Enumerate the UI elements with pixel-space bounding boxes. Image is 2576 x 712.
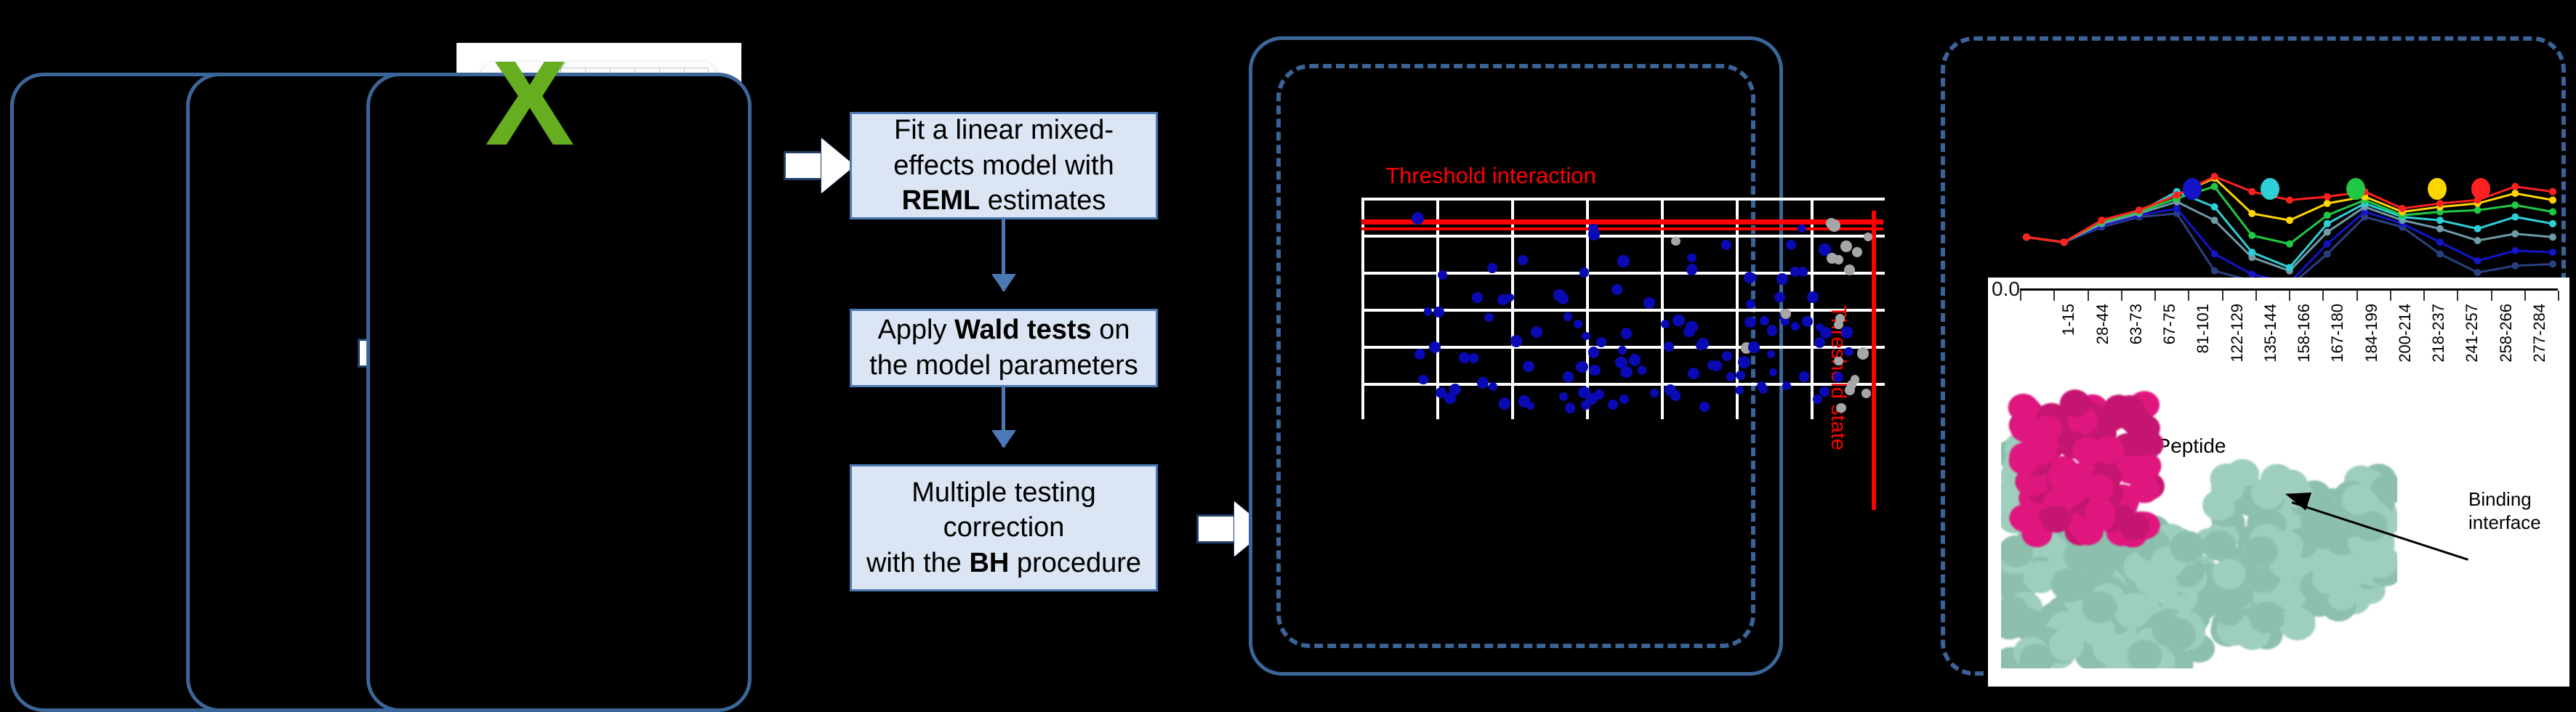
legend-dot <box>2471 178 2490 200</box>
surface-blob <box>2152 615 2187 647</box>
scatter-point <box>1412 212 1424 224</box>
line-marker <box>2549 196 2556 203</box>
scatter-point <box>1518 395 1530 407</box>
scatter-point <box>1497 294 1508 305</box>
arrow-shaft <box>1196 514 1239 543</box>
line-marker <box>2549 209 2556 216</box>
process-step-bh[interactable]: Multiple testing correction with the BH … <box>850 464 1158 591</box>
line-marker <box>2474 237 2482 244</box>
scatter-plot-title: Threshold interaction <box>1367 163 1614 189</box>
scatter-point <box>1523 361 1534 372</box>
line-marker <box>2286 217 2293 224</box>
scatter-point <box>1841 326 1853 339</box>
surface-blob <box>2303 518 2337 549</box>
scatter-point <box>1760 316 1769 325</box>
surface-blob <box>2117 593 2152 625</box>
peptide-tick-label: 1-15 <box>2059 304 2078 336</box>
scatter-point <box>1738 356 1750 368</box>
reml-keyword: REML <box>902 185 981 216</box>
surface-blob <box>2041 505 2072 533</box>
axis-tick <box>2524 291 2526 301</box>
line-marker <box>2061 238 2068 246</box>
line-marker <box>2436 217 2444 224</box>
line-marker <box>2211 217 2218 224</box>
surface-blob <box>2170 531 2205 563</box>
line-marker <box>2324 193 2331 201</box>
line-marker <box>2286 196 2293 203</box>
scatter-point <box>1790 267 1800 276</box>
bh-keyword: BH <box>969 548 1009 578</box>
peptide-line-chart <box>1992 149 2566 283</box>
line-marker <box>2511 183 2519 190</box>
peptide-tick-label: 81-101 <box>2194 304 2213 354</box>
axis-tick <box>2088 291 2089 301</box>
scatter-point <box>1671 237 1680 246</box>
line-marker <box>2023 233 2030 240</box>
axis-tick <box>2457 291 2458 301</box>
surface-blob <box>2213 559 2246 589</box>
peptide-tick-label: 200-214 <box>2396 304 2415 363</box>
surface-blob <box>2008 394 2039 421</box>
scatter-point <box>1418 375 1428 385</box>
scatter-point <box>1582 332 1590 340</box>
line-marker <box>2474 269 2482 276</box>
arrow-shaft <box>784 151 826 180</box>
surface-blob <box>2049 629 2084 661</box>
peptide-tick-label: 277-284 <box>2530 304 2549 363</box>
axis-tick <box>2390 291 2391 301</box>
scatter-point <box>1814 337 1825 348</box>
scatter-point <box>1840 240 1852 252</box>
scatter-point <box>1683 326 1695 338</box>
line-marker <box>2098 217 2105 224</box>
scatter-point <box>1433 307 1444 317</box>
line-marker <box>2511 262 2519 270</box>
bh-line-1: Multiple testing <box>911 477 1095 508</box>
surface-blob <box>2342 485 2375 515</box>
line-marker <box>2136 206 2143 214</box>
axis-tick <box>2491 291 2492 301</box>
line-marker <box>2511 201 2519 209</box>
bh-line-3-prefix: with the <box>866 548 970 578</box>
scatter-point <box>1472 292 1482 302</box>
reml-line-1: Fit a linear mixed- <box>894 115 1114 145</box>
surface-blob <box>2130 452 2161 480</box>
axis-tick <box>2020 291 2021 301</box>
reml-line-3-tail: estimates <box>980 185 1106 216</box>
peptide-tick-label: 67-75 <box>2160 304 2179 344</box>
excel-x-glyph: X <box>485 62 572 153</box>
scatter-point <box>1799 371 1809 381</box>
scatter-point <box>1711 360 1722 371</box>
line-marker <box>2474 206 2482 214</box>
process-step-wald[interactable]: Apply Wald tests on the model parameters <box>850 309 1158 387</box>
line-marker <box>2324 211 2331 219</box>
scatter-point <box>1697 338 1709 349</box>
scatter-point <box>1861 389 1871 398</box>
y-axis-tick-label: 0.0 <box>1992 278 2020 301</box>
scatter-point <box>1686 264 1697 275</box>
scatter-point <box>1617 255 1630 267</box>
line-marker <box>2324 220 2331 227</box>
scatter-point <box>1588 228 1600 240</box>
surface-blob <box>2085 504 2115 532</box>
scatter-point <box>1670 390 1681 400</box>
scatter-point <box>1589 365 1601 376</box>
line-marker <box>2474 257 2482 264</box>
binding-label-line-2: interface <box>2468 511 2541 535</box>
scatter-point <box>1721 240 1731 250</box>
peptide-tick-label: 122-129 <box>2228 304 2247 363</box>
scatter-point <box>1650 389 1659 397</box>
peptide-tick-label: 241-257 <box>2463 304 2482 363</box>
line-marker <box>2324 229 2331 236</box>
threshold-interaction-line <box>1361 219 1883 224</box>
scatter-point <box>1620 366 1632 378</box>
surface-blob <box>2128 429 2159 456</box>
line-marker <box>2436 238 2444 246</box>
line-marker <box>2248 232 2255 239</box>
peptide-tick-label: 218-237 <box>2429 304 2448 363</box>
peptide-tick-label: 63-73 <box>2127 304 2146 344</box>
surface-blob <box>2060 389 2090 417</box>
line-marker <box>2173 205 2181 212</box>
legend-dot <box>2346 178 2365 200</box>
line-marker <box>2436 251 2444 258</box>
axis-tick <box>2322 291 2324 301</box>
reml-line-2: effects model with <box>893 150 1114 181</box>
line-marker <box>2248 210 2255 217</box>
process-connector-1 <box>1002 219 1005 291</box>
axis-tick <box>2356 291 2358 301</box>
scatter-point <box>1553 289 1566 302</box>
axis-tick <box>2154 291 2156 301</box>
peptide-tick-label: 184-199 <box>2362 304 2381 363</box>
bh-line-2: correction <box>943 512 1065 543</box>
surface-blob <box>2082 591 2117 623</box>
line-marker <box>2511 247 2519 254</box>
wald-suffix: on <box>1092 315 1130 345</box>
line-marker <box>2324 240 2331 248</box>
scatter-point <box>1748 341 1759 352</box>
scatter-point <box>1563 312 1571 320</box>
threshold-state-line <box>1872 211 1876 510</box>
scatter-point <box>1844 264 1855 275</box>
surface-blob <box>2135 564 2170 596</box>
wald-line-2: the model parameters <box>869 350 1138 381</box>
scatter-point <box>1588 347 1600 358</box>
line-marker <box>2474 225 2482 232</box>
scatter-point <box>1833 372 1843 382</box>
line-marker <box>2173 191 2181 198</box>
scatter-point <box>1835 314 1845 323</box>
line-marker <box>2248 248 2255 256</box>
scatter-point <box>1774 292 1784 302</box>
scatter-point <box>1438 270 1447 280</box>
surface-blob <box>2211 473 2245 503</box>
line-marker <box>2511 214 2519 221</box>
scatter-point <box>1621 328 1632 339</box>
line-marker <box>2324 251 2331 258</box>
scatter-point <box>1664 341 1674 352</box>
line-marker <box>2549 220 2556 227</box>
scatter-point <box>1726 372 1736 381</box>
scatter-point <box>1444 392 1456 404</box>
surface-blob <box>2364 548 2397 578</box>
flow-arrow-csv-to-process <box>784 138 856 193</box>
axis-tick <box>2558 291 2559 301</box>
line-marker <box>2549 261 2556 268</box>
surface-blob <box>2251 479 2285 509</box>
line-marker <box>2436 200 2444 207</box>
surface-blob <box>2083 474 2114 501</box>
scatter-point <box>1629 354 1641 365</box>
surface-blob <box>2202 530 2236 561</box>
surface-blob <box>2354 511 2388 541</box>
scatter-point <box>1699 402 1709 411</box>
surface-blob <box>2072 437 2103 465</box>
scatter-point <box>1578 387 1590 398</box>
peptide-tick-label: 28-44 <box>2093 304 2112 344</box>
scatter-point <box>1487 263 1497 273</box>
scatter-point <box>1469 353 1478 363</box>
axis-tick <box>2222 291 2223 301</box>
axis-tick <box>2255 291 2257 301</box>
surface-blob <box>2245 536 2278 567</box>
scatter-point <box>1786 240 1796 250</box>
surface-blob <box>2249 602 2285 634</box>
line-marker <box>2549 188 2556 195</box>
scatter-point <box>1688 368 1699 379</box>
scatter-point <box>1857 347 1869 360</box>
line-chart-svg <box>1992 149 2566 283</box>
scatter-point <box>1489 382 1497 391</box>
scatter-point <box>1643 297 1655 309</box>
wald-keyword: Wald tests <box>954 315 1092 345</box>
scatter-point <box>1618 346 1627 355</box>
scatter-point <box>1579 267 1590 278</box>
process-connector-2 <box>1002 387 1005 447</box>
line-marker <box>2324 200 2331 207</box>
line-marker <box>2549 248 2556 256</box>
line-marker <box>2286 264 2293 271</box>
surface-blob <box>2119 513 2149 541</box>
scatter-point <box>1484 313 1493 322</box>
line-marker <box>2549 233 2556 240</box>
axis-tick <box>2053 291 2055 301</box>
scatter-point <box>1459 352 1470 363</box>
scatter-point <box>1776 273 1788 285</box>
line-marker <box>2286 240 2293 248</box>
scatter-point <box>1619 395 1629 404</box>
binding-interface-label: Binding interface <box>2468 488 2541 534</box>
scatter-point <box>1844 347 1853 357</box>
scatter-point <box>1687 254 1696 262</box>
scatter-point <box>1827 253 1838 264</box>
surface-blob <box>2279 607 2316 641</box>
scatter-point <box>1791 322 1800 331</box>
scatter-point <box>1798 224 1806 232</box>
axis-tick <box>2188 291 2189 301</box>
line-marker <box>2399 205 2406 212</box>
results-white-card: 0.0 1-1528-4463-7367-7581-101122-129135-… <box>1988 278 2569 687</box>
line-marker <box>2211 183 2218 190</box>
peptide-tick-label: 167-180 <box>2328 304 2347 363</box>
scatter-point <box>1638 365 1646 374</box>
scatter-point <box>1576 361 1588 373</box>
peptide-tick-label: 158-166 <box>2295 304 2314 363</box>
line-marker <box>2248 270 2255 278</box>
scatter-point <box>1565 402 1576 413</box>
line-series-series-steel <box>2026 202 2553 271</box>
binding-label-line-1: Binding <box>2468 488 2541 511</box>
scatter-point <box>1414 349 1425 360</box>
scatter-point <box>1531 326 1542 338</box>
scatter-point <box>1820 327 1832 339</box>
legend-dot <box>2183 178 2202 200</box>
scatter-point <box>1477 377 1489 389</box>
surface-blob <box>2026 437 2057 465</box>
axis-tick <box>2121 291 2122 301</box>
line-marker <box>2211 251 2218 258</box>
scatter-point <box>1510 335 1522 347</box>
scatter-point <box>1499 397 1510 409</box>
line-marker <box>2211 203 2218 211</box>
bh-line-3-suffix: procedure <box>1009 548 1141 578</box>
line-marker <box>2511 230 2519 238</box>
scatter-point <box>1807 291 1819 303</box>
line-marker <box>2511 190 2519 197</box>
line-marker <box>2436 225 2444 232</box>
process-step-reml[interactable]: Fit a linear mixed- effects model with R… <box>850 112 1158 219</box>
legend-dot <box>2428 178 2447 200</box>
surface-blob <box>2050 568 2085 600</box>
axis-tick <box>2423 291 2425 301</box>
axis-tick <box>2289 291 2290 301</box>
line-marker <box>2211 173 2218 180</box>
scatter-point <box>1563 371 1574 382</box>
line-marker <box>2211 267 2218 275</box>
peptide-tick-label: 135-144 <box>2261 304 2280 363</box>
scatter-point <box>1781 309 1791 319</box>
surface-blob <box>2093 633 2128 665</box>
legend-dot <box>2261 178 2279 200</box>
line-marker <box>2248 188 2255 195</box>
peptide-tick-label: 258-266 <box>2497 304 2516 363</box>
surface-blob <box>2312 564 2346 594</box>
wald-prefix: Apply <box>877 315 954 345</box>
scatter-point <box>1673 315 1685 327</box>
